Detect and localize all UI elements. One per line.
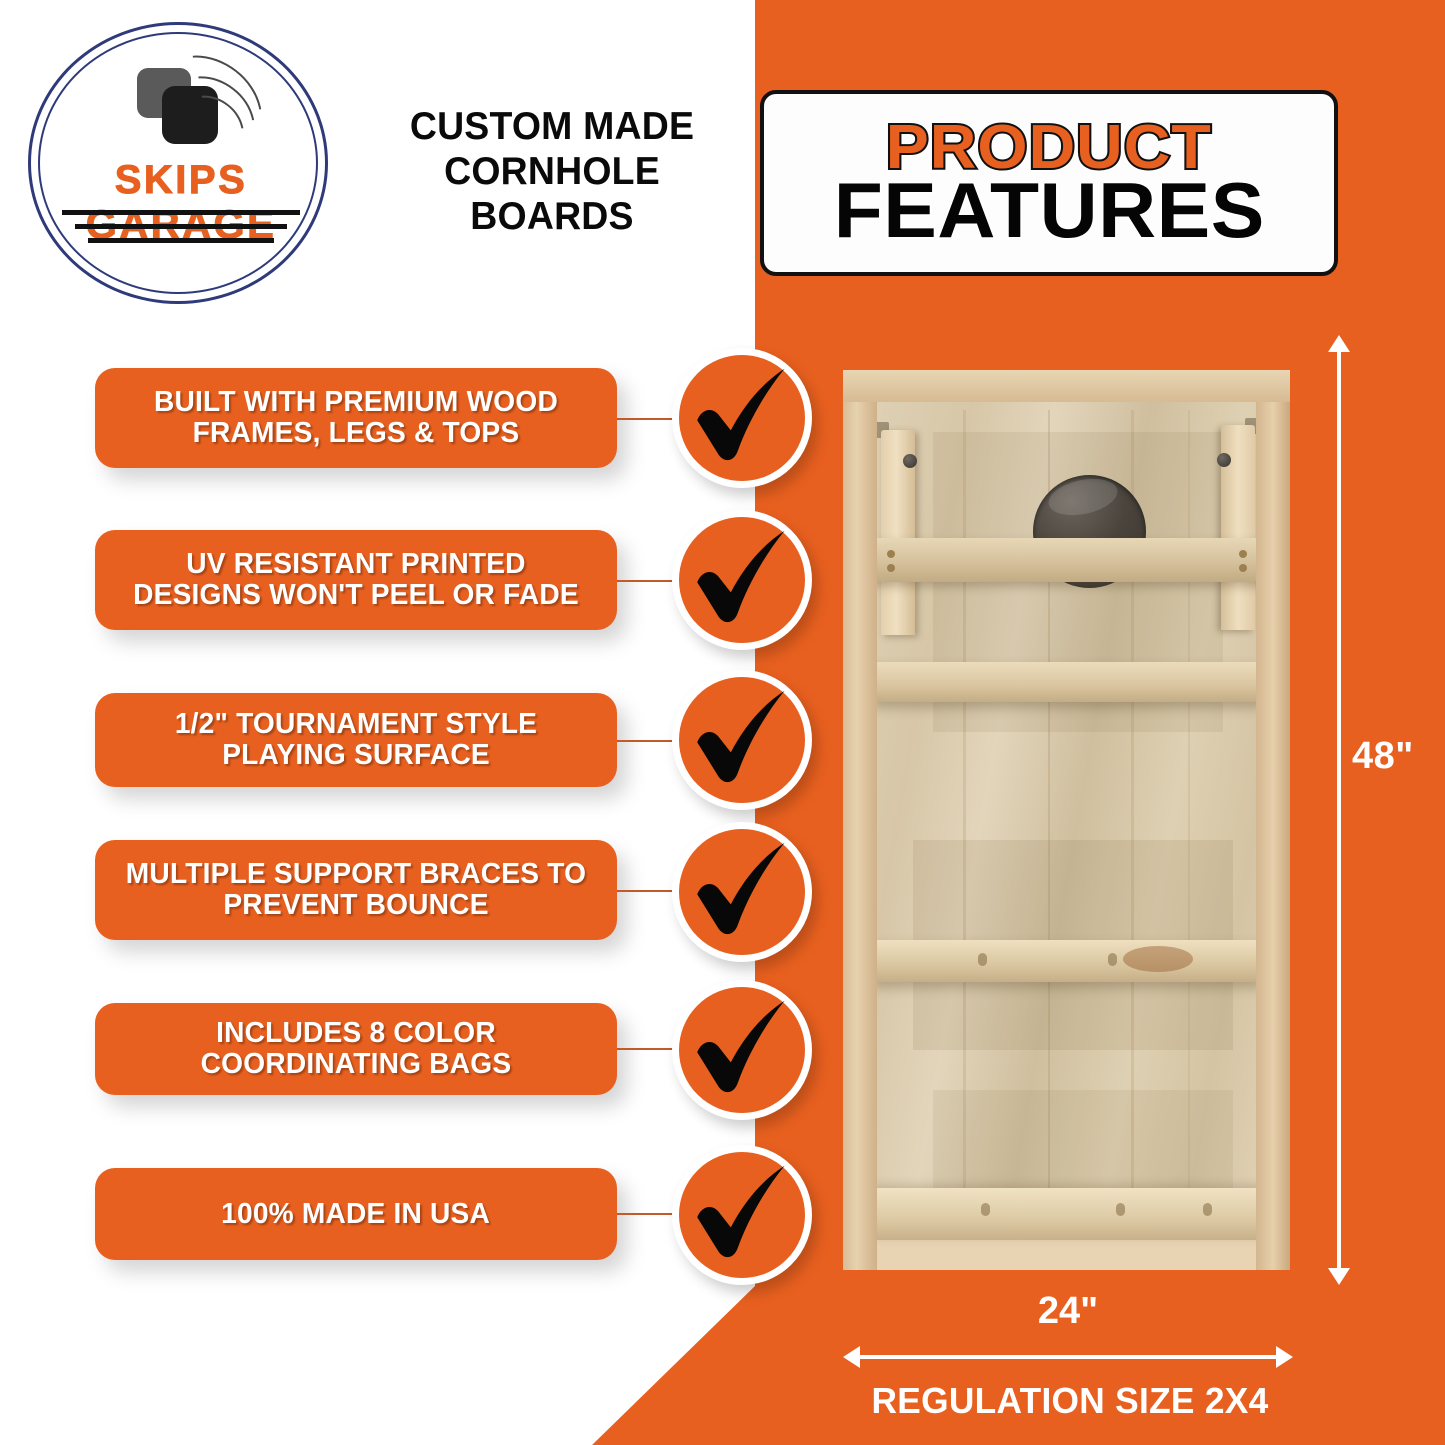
width-dimension-arrow (858, 1355, 1278, 1359)
screw-icon (1239, 550, 1247, 558)
folded-leg-right (1221, 425, 1255, 630)
feature-label: MULTIPLE SUPPORT BRACES TO PREVENT BOUNC… (103, 859, 609, 920)
feature-label: UV RESISTANT PRINTED DESIGNS WON'T PEEL … (103, 549, 609, 610)
infographic-canvas: SKIPS GARAGE CUSTOM MADE CORNHOLE BOARDS… (0, 0, 1445, 1445)
support-brace (873, 1188, 1263, 1240)
feature-label: INCLUDES 8 COLOR COORDINATING BAGS (103, 1018, 609, 1079)
screw-icon (1116, 1203, 1125, 1216)
screw-icon (981, 1203, 990, 1216)
feature-label: BUILT WITH PREMIUM WOOD FRAMES, LEGS & T… (103, 387, 609, 448)
support-brace (873, 538, 1263, 582)
feature-label: 100% MADE IN USA (206, 1199, 506, 1230)
logo-underline (62, 210, 300, 215)
folded-leg-left (881, 430, 915, 635)
feature-pill: INCLUDES 8 COLOR COORDINATING BAGS (95, 1003, 617, 1095)
feature-pill: MULTIPLE SUPPORT BRACES TO PREVENT BOUNC… (95, 840, 617, 940)
check-icon (672, 980, 812, 1120)
screw-icon (978, 953, 987, 966)
screw-icon (1239, 564, 1247, 572)
page-title-line-2: CORNHOLE (360, 149, 744, 194)
check-icon-glyph (686, 684, 798, 796)
logo-underline-group (22, 210, 340, 252)
check-icon (672, 822, 812, 962)
check-icon (672, 670, 812, 810)
logo-underline (75, 224, 287, 229)
logo-underline (88, 238, 274, 243)
product-features-banner: PRODUCT FEATURES (760, 90, 1338, 276)
check-icon (672, 510, 812, 650)
feature-label: 1/2" TOURNAMENT STYLE PLAYING SURFACE (103, 709, 609, 770)
check-icon-glyph (686, 524, 798, 636)
page-title: CUSTOM MADE CORNHOLE BOARDS (360, 104, 744, 240)
leg-bolt-icon (903, 454, 917, 468)
screw-icon (1203, 1203, 1212, 1216)
page-title-line-3: BOARDS (360, 194, 744, 239)
screw-icon (1108, 953, 1117, 966)
check-icon-glyph (686, 1159, 798, 1271)
board-frame-left (843, 370, 877, 1270)
leg-bolt-icon (1217, 453, 1231, 467)
support-brace (873, 940, 1263, 982)
wood-knot (1123, 946, 1193, 972)
check-icon (672, 1145, 812, 1285)
check-icon-glyph (686, 994, 798, 1106)
banner-line-features: FEATURES (833, 173, 1264, 247)
feature-pill: 1/2" TOURNAMENT STYLE PLAYING SURFACE (95, 693, 617, 787)
board-frame-right (1256, 370, 1290, 1270)
board-frame-top (843, 370, 1290, 402)
brand-logo: SKIPS GARAGE (22, 18, 340, 308)
page-title-line-1: CUSTOM MADE (360, 104, 744, 149)
feature-pill: 100% MADE IN USA (95, 1168, 617, 1260)
regulation-size-text: REGULATION SIZE 2X4 (825, 1380, 1315, 1422)
check-icon (672, 348, 812, 488)
check-icon-glyph (686, 362, 798, 474)
width-dimension-label: 24" (858, 1290, 1278, 1333)
screw-icon (887, 564, 895, 572)
product-photo (843, 370, 1290, 1270)
height-dimension-label: 48" (1352, 735, 1414, 778)
screw-icon (887, 550, 895, 558)
check-icon-glyph (686, 836, 798, 948)
feature-pill: BUILT WITH PREMIUM WOOD FRAMES, LEGS & T… (95, 368, 617, 468)
support-brace (873, 662, 1263, 702)
height-dimension-arrow (1337, 350, 1341, 1270)
feature-pill: UV RESISTANT PRINTED DESIGNS WON'T PEEL … (95, 530, 617, 630)
